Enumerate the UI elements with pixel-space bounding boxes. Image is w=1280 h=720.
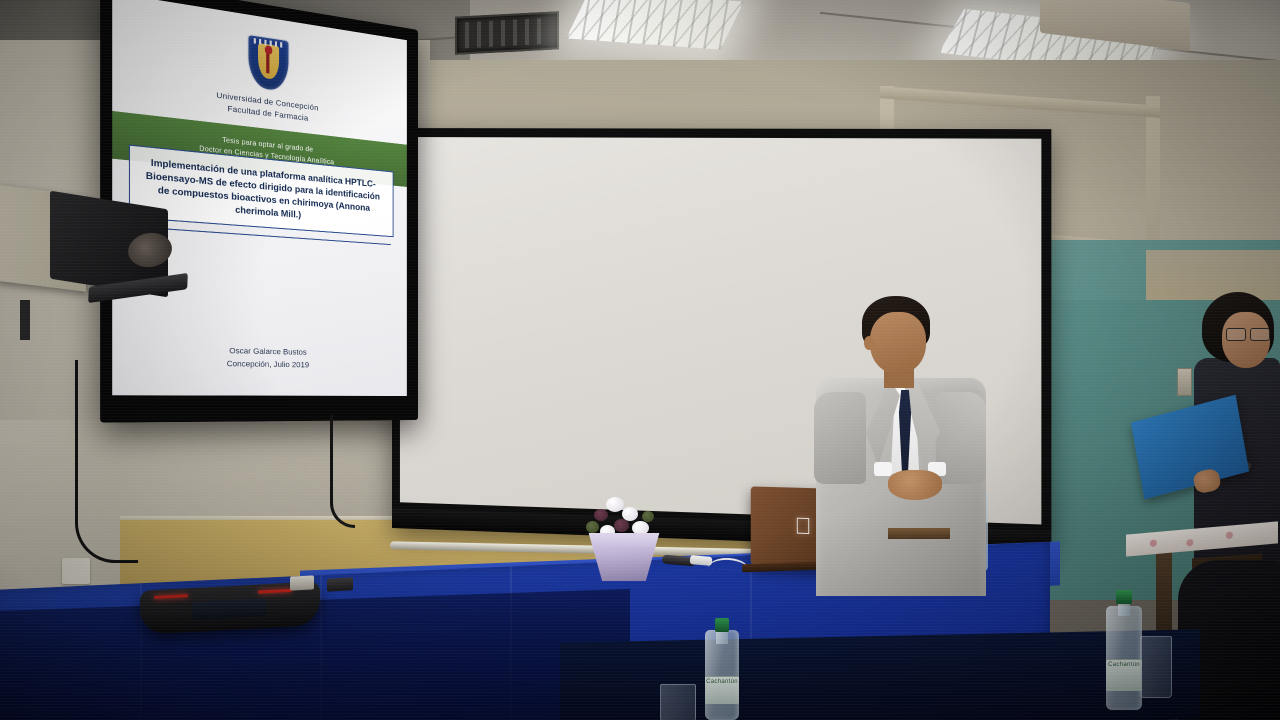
belt xyxy=(888,528,950,539)
apple-logo-icon:  xyxy=(792,513,813,538)
place-and-date: Concepción, Julio 2019 xyxy=(227,358,309,373)
face xyxy=(870,312,926,374)
power-cable xyxy=(330,415,355,528)
presentation-photograph: Universidad de Concepción Facultad de Fa… xyxy=(0,0,1280,720)
phone-led-indicator xyxy=(258,589,292,594)
bottle-label: Cachantún xyxy=(705,676,739,704)
power-cable xyxy=(75,360,138,563)
crest-flame xyxy=(265,45,272,55)
phone-led-indicator xyxy=(154,594,188,599)
presenter xyxy=(812,296,988,596)
drinking-glass[interactable] xyxy=(1140,636,1172,698)
ear xyxy=(864,336,874,350)
phone-display xyxy=(192,598,266,620)
table-item-dark[interactable] xyxy=(327,577,353,591)
bottle-cap-green xyxy=(1116,590,1132,604)
university-crest-icon xyxy=(247,34,289,93)
wall-outlet[interactable] xyxy=(62,558,90,584)
clasped-hands xyxy=(888,470,942,500)
table-item-white[interactable] xyxy=(290,575,314,590)
mount-post xyxy=(20,300,30,340)
bouquet-wrapping xyxy=(582,533,666,581)
author-name: Oscar Galarce Bustos xyxy=(227,344,309,359)
title-slide: Universidad de Concepción Facultad de Fa… xyxy=(112,0,407,396)
flower-bouquet xyxy=(578,495,670,581)
eyeglasses-icon xyxy=(1226,328,1270,339)
bottle-cap-green xyxy=(715,618,730,632)
author-block: Oscar Galarce Bustos Concepción, Julio 2… xyxy=(227,344,309,373)
jacket-sleeve-left xyxy=(814,392,866,484)
water-bottle[interactable]: Cachantún xyxy=(705,618,739,720)
bottle-label: Cachantún xyxy=(1106,659,1142,691)
foreground-table xyxy=(560,629,1200,720)
water-bottle[interactable]: Cachantún xyxy=(1106,590,1142,710)
drinking-glass[interactable] xyxy=(660,684,696,720)
air-vent-icon xyxy=(455,11,559,54)
